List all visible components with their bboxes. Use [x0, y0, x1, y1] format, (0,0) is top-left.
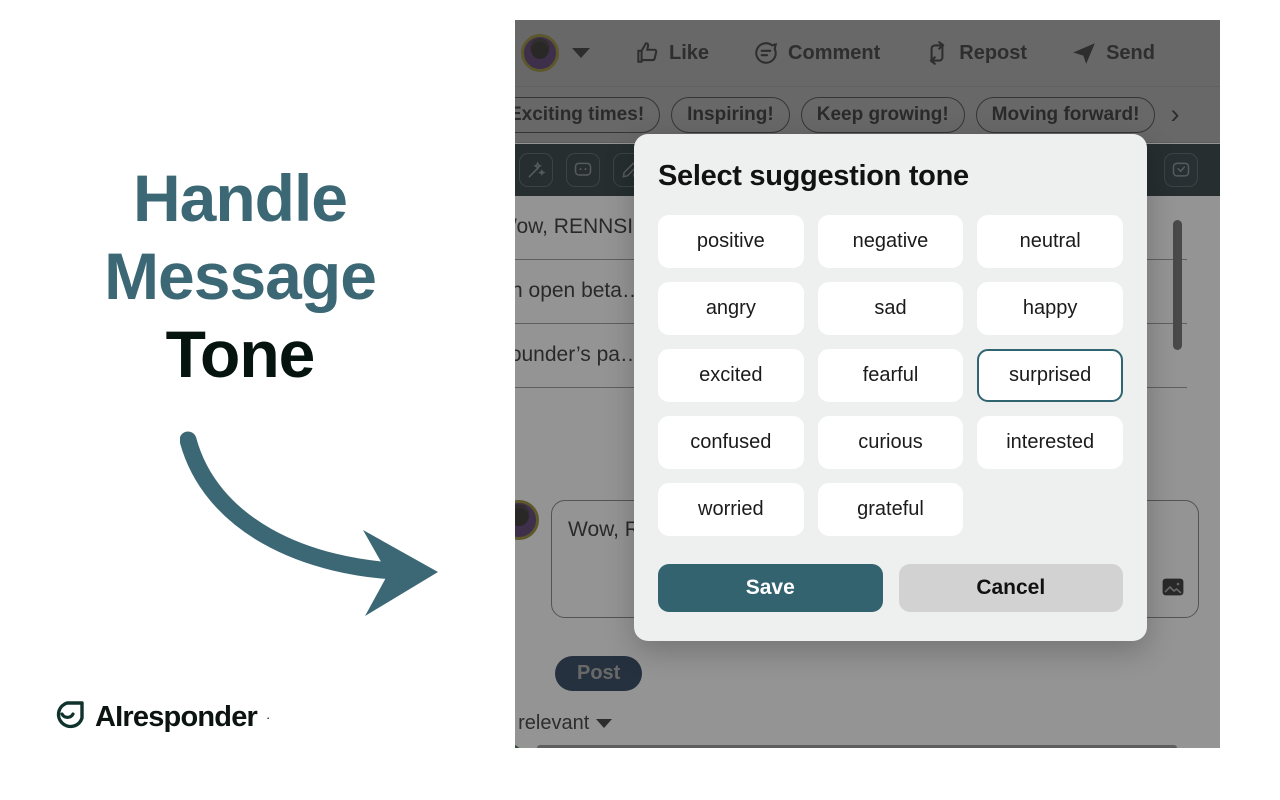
post-action-bar: Like Comment [515, 20, 1220, 87]
tone-option-excited[interactable]: excited [658, 349, 804, 402]
modal-actions: Save Cancel [658, 564, 1123, 612]
select-tone-modal: Select suggestion tone positive negative… [634, 134, 1147, 641]
send-icon [1071, 40, 1097, 66]
tone-option-worried[interactable]: worried [658, 483, 804, 536]
chevron-down-icon[interactable] [572, 48, 590, 58]
tone-option-happy[interactable]: happy [977, 282, 1123, 335]
comment-icon [753, 40, 779, 66]
cancel-button[interactable]: Cancel [899, 564, 1124, 612]
repost-label: Repost [959, 42, 1027, 65]
chevron-down-icon [596, 719, 612, 728]
tone-option-sad[interactable]: sad [818, 282, 964, 335]
repost-icon [924, 40, 950, 66]
comment-button[interactable]: Comment [753, 40, 880, 66]
chip-exciting-times[interactable]: Exciting times! [515, 97, 660, 133]
sort-selector[interactable]: st relevant [515, 712, 612, 735]
chat-bubble-smile-icon [52, 700, 86, 734]
save-button[interactable]: Save [658, 564, 883, 612]
logo-trademark: · [266, 710, 270, 725]
tone-option-angry[interactable]: angry [658, 282, 804, 335]
tone-option-negative[interactable]: negative [818, 215, 964, 268]
chip-keep-growing[interactable]: Keep growing! [801, 97, 965, 133]
logo-wordmark: AIresponder [95, 701, 257, 734]
avatar [515, 500, 539, 540]
headline-line-2: Message [20, 238, 460, 316]
screenshot-root: Handle Message Tone AIresponder · [0, 0, 1280, 800]
comment-label: Comment [788, 42, 880, 65]
status-dot [515, 744, 523, 748]
chip-moving-forward[interactable]: Moving forward! [976, 97, 1156, 133]
tone-option-fearful[interactable]: fearful [818, 349, 964, 402]
post-button[interactable]: Post [555, 656, 642, 691]
suggestion-scrollbar[interactable] [1173, 220, 1182, 350]
placeholder-bar [537, 745, 1177, 748]
brand-logo: AIresponder · [52, 700, 270, 734]
tone-option-neutral[interactable]: neutral [977, 215, 1123, 268]
tone-option-curious[interactable]: curious [818, 416, 964, 469]
curved-arrow-icon [180, 430, 520, 620]
promo-headline: Handle Message Tone [20, 160, 460, 394]
tone-option-surprised[interactable]: surprised [977, 349, 1123, 402]
avatar[interactable] [521, 34, 559, 72]
chips-next-arrow-icon[interactable]: › [1166, 99, 1183, 130]
chip-inspiring[interactable]: Inspiring! [671, 97, 790, 133]
tone-option-confused[interactable]: confused [658, 416, 804, 469]
tone-options-grid: positive negative neutral angry sad happ… [658, 215, 1123, 536]
tone-option-positive[interactable]: positive [658, 215, 804, 268]
sort-label: st relevant [515, 712, 589, 735]
repost-button[interactable]: Repost [924, 40, 1027, 66]
thumbs-up-icon [634, 40, 660, 66]
promo-panel: Handle Message Tone AIresponder · [0, 0, 500, 800]
tone-option-interested[interactable]: interested [977, 416, 1123, 469]
send-label: Send [1106, 42, 1155, 65]
like-button[interactable]: Like [634, 40, 709, 66]
bottom-strip [515, 744, 1217, 748]
tone-option-grateful[interactable]: grateful [818, 483, 964, 536]
headline-line-1: Handle [20, 160, 460, 238]
magic-wand-icon[interactable] [519, 153, 553, 187]
like-label: Like [669, 42, 709, 65]
headline-line-3: Tone [20, 316, 460, 394]
image-icon[interactable] [1160, 575, 1186, 607]
chat-check-icon[interactable] [1164, 153, 1198, 187]
send-button[interactable]: Send [1071, 40, 1155, 66]
tone-grid-spacer [977, 483, 1123, 536]
modal-title: Select suggestion tone [658, 160, 1123, 193]
chat-bubble-icon[interactable] [566, 153, 600, 187]
